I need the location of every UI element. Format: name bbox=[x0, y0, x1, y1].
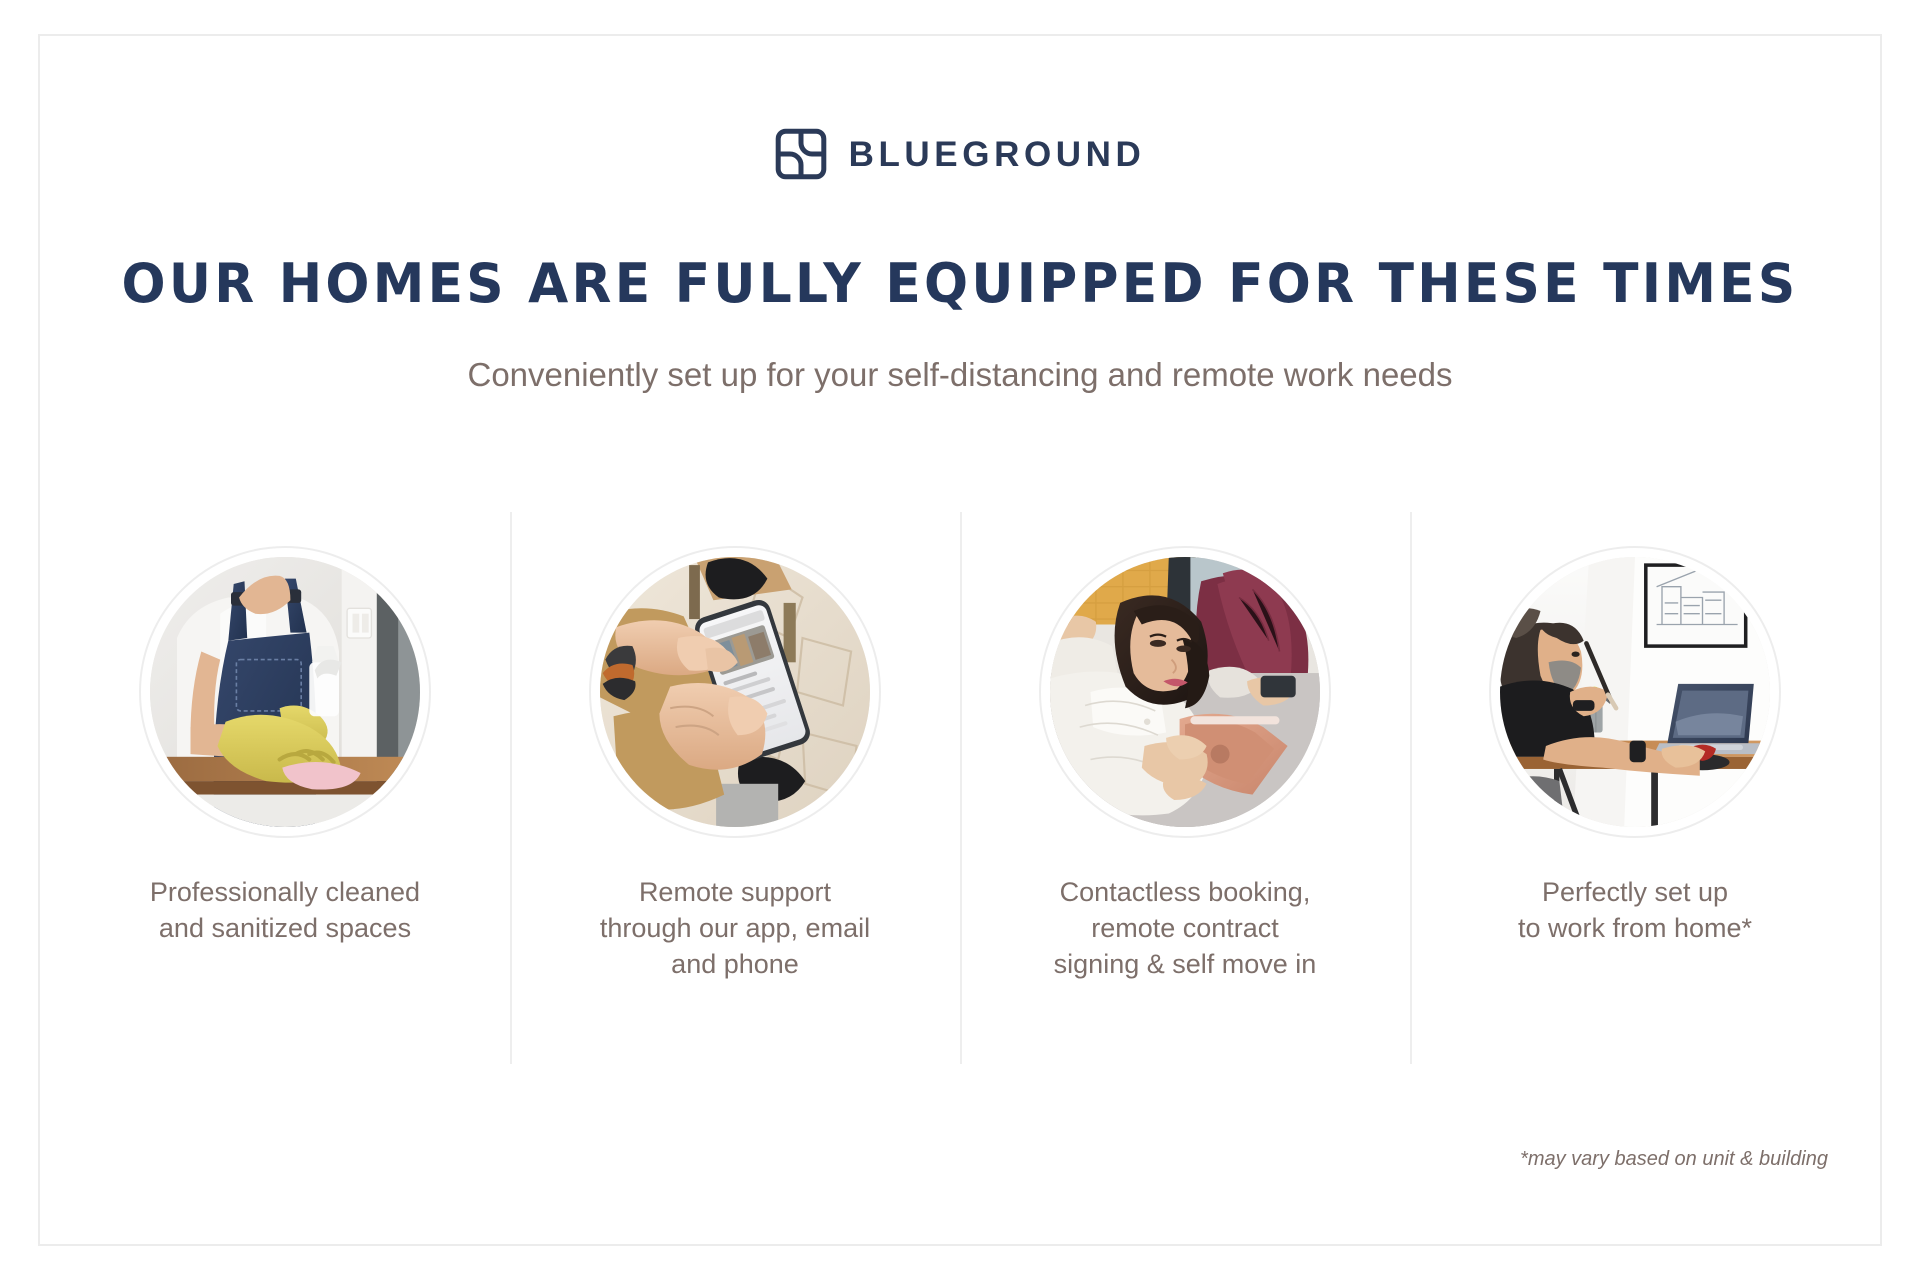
caption-line: to work from home* bbox=[1465, 910, 1805, 946]
footnote-disclaimer: *may vary based on unit & building bbox=[1520, 1148, 1828, 1171]
photo-ring-cleaning bbox=[139, 546, 431, 838]
photo-ring-remote-support bbox=[589, 546, 881, 838]
caption-line: through our app, email bbox=[565, 910, 905, 946]
feature-column-contactless-booking: Contactless booking, remote contract sig… bbox=[960, 508, 1410, 1068]
caption-line: and phone bbox=[565, 946, 905, 982]
caption-line: signing & self move in bbox=[1015, 946, 1355, 982]
feature-column-cleaning: Professionally cleaned and sanitized spa… bbox=[60, 508, 510, 1068]
caption-line: Contactless booking, bbox=[1015, 874, 1355, 910]
feature-caption-contactless-booking: Contactless booking, remote contract sig… bbox=[1015, 874, 1355, 983]
page-title: OUR HOMES ARE FULLY EQUIPPED FOR THESE T… bbox=[38, 255, 1881, 313]
feature-caption-work-from-home: Perfectly set up to work from home* bbox=[1465, 874, 1805, 946]
feature-caption-remote-support: Remote support through our app, email an… bbox=[565, 874, 905, 983]
caption-line: Perfectly set up bbox=[1465, 874, 1805, 910]
feature-column-remote-support: Remote support through our app, email an… bbox=[510, 508, 960, 1068]
caption-line: Remote support bbox=[565, 874, 905, 910]
infographic-page: BLUEGROUND OUR HOMES ARE FULLY EQUIPPED … bbox=[0, 0, 1920, 1280]
feature-column-work-from-home: Perfectly set up to work from home* bbox=[1410, 508, 1860, 1068]
photo-ring-work-from-home bbox=[1489, 546, 1781, 838]
page-subtitle: Conveniently set up for your self-distan… bbox=[0, 355, 1920, 395]
photo-tablet-on-bed bbox=[1050, 557, 1320, 827]
brand-logo: BLUEGROUND bbox=[0, 128, 1920, 180]
caption-line: remote contract bbox=[1015, 910, 1355, 946]
caption-line: and sanitized spaces bbox=[115, 910, 455, 946]
feature-caption-cleaning: Professionally cleaned and sanitized spa… bbox=[115, 874, 455, 946]
photo-smartphone-app bbox=[600, 557, 870, 827]
caption-line: Professionally cleaned bbox=[115, 874, 455, 910]
brand-wordmark: BLUEGROUND bbox=[849, 137, 1146, 172]
blueground-square-mark-icon bbox=[775, 128, 827, 180]
feature-columns: Professionally cleaned and sanitized spa… bbox=[60, 508, 1860, 1068]
photo-work-from-home-desk bbox=[1500, 557, 1770, 827]
photo-ring-contactless-booking bbox=[1039, 546, 1331, 838]
photo-cleaning-gloves bbox=[150, 557, 420, 827]
